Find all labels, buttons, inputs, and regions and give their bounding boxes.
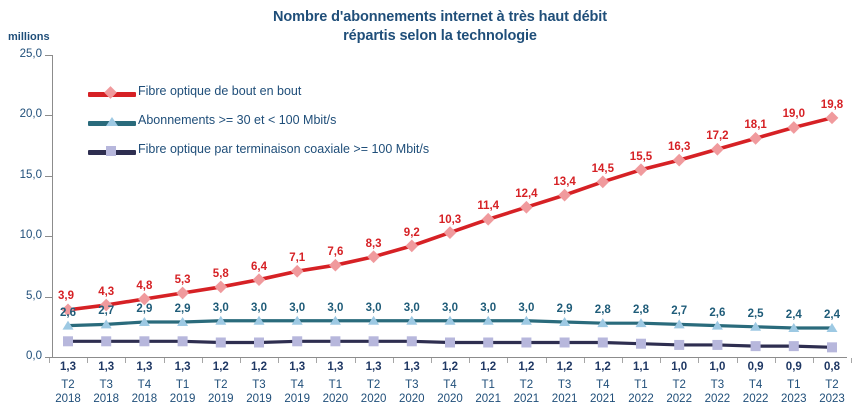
series-0-marker [291, 265, 304, 278]
data-label-s1-p14: 2,8 [595, 304, 611, 316]
data-label-s2-p9: 1,3 [404, 361, 420, 373]
series-2-marker [330, 336, 340, 346]
x-category-20: T22023 [810, 378, 854, 406]
data-label-s1-p17: 2,6 [709, 307, 725, 319]
data-label-s2-p1: 1,3 [98, 361, 114, 373]
data-label-s1-p15: 2,8 [633, 304, 649, 316]
series-2-marker [751, 341, 761, 351]
data-label-s1-p2: 2,9 [136, 303, 152, 315]
series-2-marker [712, 340, 722, 350]
data-label-s0-p19: 19,0 [783, 108, 805, 120]
series-2-marker [369, 336, 379, 346]
data-label-s2-p15: 1,1 [633, 361, 649, 373]
data-label-s0-p20: 19,8 [821, 99, 843, 111]
data-label-s1-p9: 3,0 [404, 302, 420, 314]
data-label-s1-p5: 3,0 [251, 302, 267, 314]
x-category-quarter: T2 [810, 378, 854, 392]
data-label-s1-p8: 3,0 [366, 302, 382, 314]
series-2-marker [216, 338, 226, 348]
series-0-marker [367, 250, 380, 263]
data-label-s2-p19: 0,9 [786, 361, 802, 373]
data-label-s1-p3: 2,9 [175, 303, 191, 315]
data-label-s0-p12: 12,4 [515, 188, 537, 200]
data-label-s2-p16: 1,0 [671, 361, 687, 373]
series-2-marker [445, 338, 455, 348]
data-label-s2-p20: 0,8 [824, 361, 840, 373]
data-label-s2-p14: 1,2 [595, 361, 611, 373]
data-label-s0-p15: 15,5 [630, 151, 652, 163]
data-label-s2-p2: 1,3 [136, 361, 152, 373]
series-2-marker [178, 336, 188, 346]
series-2-marker [789, 341, 799, 351]
series-2-marker [560, 338, 570, 348]
data-label-s0-p11: 11,4 [477, 200, 499, 212]
series-0-marker [444, 226, 457, 239]
series-2-marker [636, 339, 646, 349]
data-label-s2-p3: 1,3 [175, 361, 191, 373]
data-label-s0-p9: 9,2 [404, 227, 420, 239]
series-0-marker [711, 143, 724, 156]
data-label-s1-p0: 2,6 [60, 307, 76, 319]
series-0-marker [635, 163, 648, 176]
data-label-s0-p4: 5,8 [213, 268, 229, 280]
series-0-marker [520, 201, 533, 214]
series-2-marker [483, 338, 493, 348]
data-label-s2-p11: 1,2 [480, 361, 496, 373]
data-label-s0-p0: 3,9 [58, 290, 74, 302]
series-0-marker [329, 259, 342, 272]
data-label-s2-p5: 1,2 [251, 361, 267, 373]
series-2-marker [139, 336, 149, 346]
series-0-marker [787, 121, 800, 134]
legend-label-1: Abonnements >= 30 et < 100 Mbit/s [138, 113, 336, 127]
data-label-s0-p18: 18,1 [744, 119, 766, 131]
data-label-s0-p13: 13,4 [553, 176, 575, 188]
data-label-s2-p12: 1,2 [518, 361, 534, 373]
series-0-marker [214, 281, 227, 294]
data-label-s2-p8: 1,3 [366, 361, 382, 373]
series-2-marker [63, 336, 73, 346]
legend-diamond-marker-icon [106, 88, 115, 97]
data-label-s0-p14: 14,5 [592, 163, 614, 175]
series-2-marker [292, 336, 302, 346]
data-label-s0-p6: 7,1 [289, 252, 305, 264]
series-2-marker [674, 340, 684, 350]
legend-square-marker-icon [106, 146, 116, 156]
legend-label-0: Fibre optique de bout en bout [138, 84, 301, 98]
data-label-s1-p16: 2,7 [671, 305, 687, 317]
series-0-marker [405, 240, 418, 253]
series-0-marker [558, 189, 571, 202]
data-label-s1-p12: 3,0 [518, 302, 534, 314]
series-0-marker [176, 287, 189, 300]
series-0-marker [826, 111, 839, 124]
series-lines [0, 0, 865, 419]
legend-label-2: Fibre optique par terminaison coaxiale >… [138, 142, 429, 156]
data-label-s1-p7: 3,0 [327, 302, 343, 314]
data-label-s1-p20: 2,4 [824, 309, 840, 321]
series-2-marker [827, 342, 837, 352]
data-label-s1-p6: 3,0 [289, 302, 305, 314]
data-label-s1-p11: 3,0 [480, 302, 496, 314]
data-label-s1-p1: 2,7 [98, 305, 114, 317]
data-label-s0-p1: 4,3 [98, 286, 114, 298]
data-label-s0-p7: 7,6 [327, 246, 343, 258]
data-label-s0-p2: 4,8 [136, 280, 152, 292]
data-label-s2-p6: 1,3 [289, 361, 305, 373]
chart-container: Nombre d'abonnements internet à très hau… [0, 0, 865, 419]
series-2-marker [101, 336, 111, 346]
data-label-s1-p13: 2,9 [557, 303, 573, 315]
series-2-marker [521, 338, 531, 348]
series-0-marker [749, 132, 762, 145]
data-label-s0-p3: 5,3 [175, 274, 191, 286]
series-2-marker [598, 338, 608, 348]
data-label-s2-p17: 1,0 [709, 361, 725, 373]
data-label-s1-p4: 3,0 [213, 302, 229, 314]
series-0-marker [596, 175, 609, 188]
series-0-marker [673, 154, 686, 167]
data-label-s0-p5: 6,4 [251, 261, 267, 273]
data-label-s0-p8: 8,3 [366, 238, 382, 250]
data-label-s2-p4: 1,2 [213, 361, 229, 373]
data-label-s2-p13: 1,2 [557, 361, 573, 373]
series-2-marker [254, 338, 264, 348]
data-label-s0-p16: 16,3 [668, 141, 690, 153]
series-0-marker [482, 213, 495, 226]
data-label-s1-p10: 3,0 [442, 302, 458, 314]
series-0-marker [253, 273, 266, 286]
data-label-s2-p10: 1,2 [442, 361, 458, 373]
data-label-s2-p0: 1,3 [60, 361, 76, 373]
series-2-marker [407, 336, 417, 346]
data-label-s2-p18: 0,9 [748, 361, 764, 373]
x-category-year: 2023 [810, 392, 854, 406]
legend-triangle-marker-icon [106, 117, 118, 126]
data-label-s0-p17: 17,2 [706, 130, 728, 142]
data-label-s1-p19: 2,4 [786, 309, 802, 321]
data-label-s1-p18: 2,5 [748, 308, 764, 320]
data-label-s2-p7: 1,3 [327, 361, 343, 373]
data-label-s0-p10: 10,3 [439, 214, 461, 226]
